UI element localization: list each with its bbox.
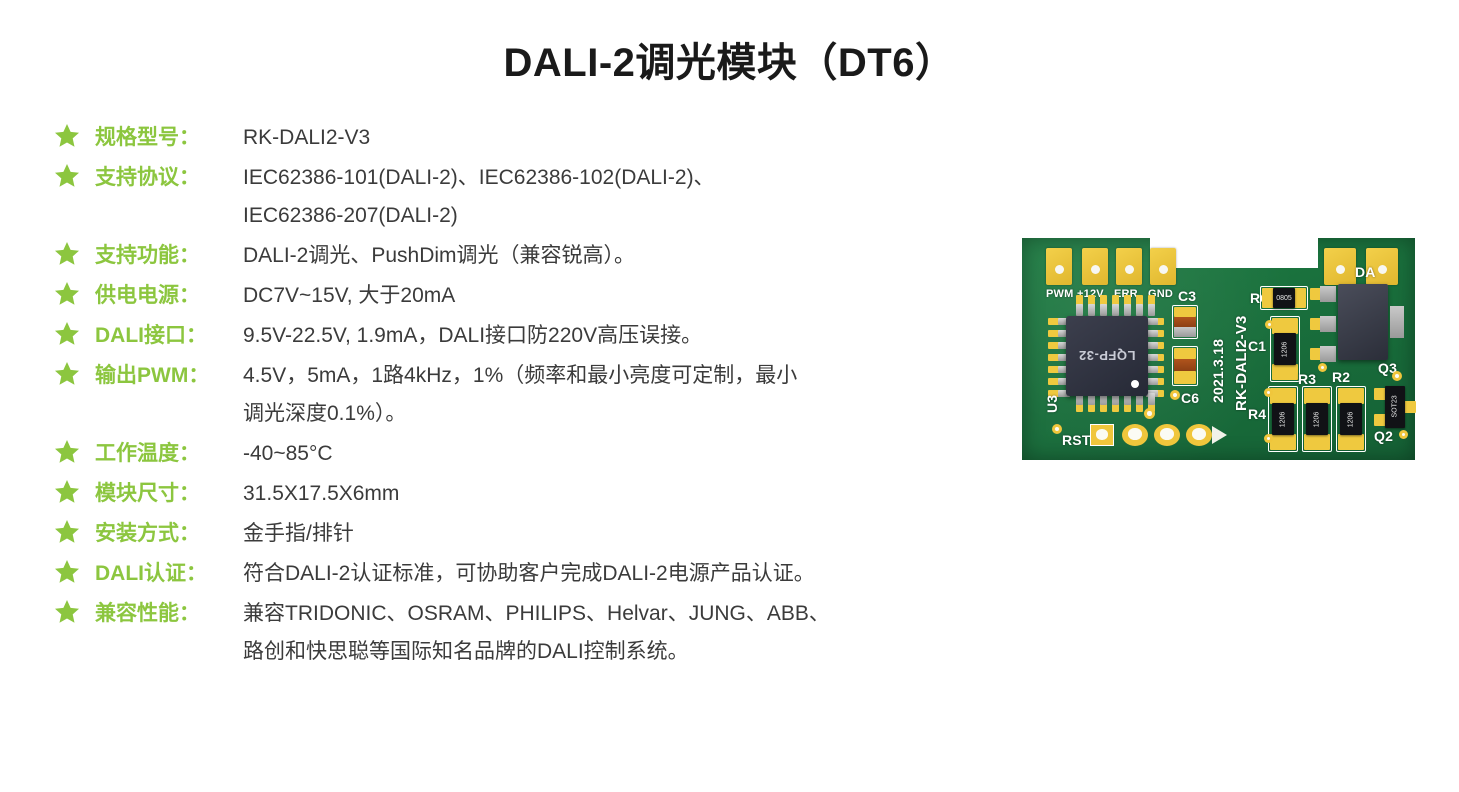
spec-value: -40~85°C bbox=[243, 438, 1015, 469]
silk-ref-rst: RST bbox=[1062, 432, 1091, 448]
silk-label-pwm: PWM bbox=[1046, 288, 1073, 300]
spec-value-line: IEC62386-207(DALI-2) bbox=[243, 200, 1015, 231]
silk-ref-c6: C6 bbox=[1181, 390, 1199, 406]
spec-value-line: DC7V~15V, 大于20mA bbox=[243, 280, 1015, 311]
smd-code: 1206 bbox=[1314, 408, 1321, 430]
spec-value: 9.5V-22.5V, 1.9mA，DALI接口防220V高压误接。 bbox=[243, 320, 1015, 351]
spec-value-line: 金手指/排针 bbox=[243, 518, 1015, 549]
spec-value-line: DALI-2调光、PushDim调光（兼容锐高）。 bbox=[243, 240, 1015, 271]
spec-value: RK-DALI2-V3 bbox=[243, 122, 1015, 153]
qfp-32-chip: LQFP-32 bbox=[1066, 316, 1148, 396]
spec-value-line: -40~85°C bbox=[243, 438, 1015, 469]
spec-value-line: 兼容TRIDONIC、OSRAM、PHILIPS、Helvar、JUNG、ABB… bbox=[243, 598, 1015, 629]
star-icon bbox=[55, 240, 81, 265]
spec-row: DALI接口： 9.5V-22.5V, 1.9mA，DALI接口防220V高压误… bbox=[55, 320, 1015, 351]
specification-list: 规格型号： RK-DALI2-V3 支持协议： IEC62386-101(DAL… bbox=[55, 122, 1015, 676]
silk-label-da: DA bbox=[1355, 264, 1376, 280]
spec-row: 模块尺寸： 31.5X17.5X6mm bbox=[55, 478, 1015, 509]
spec-value: DALI-2调光、PushDim调光（兼容锐高）。 bbox=[243, 240, 1015, 271]
spec-row: 输出PWM： 4.5V，5mA，1路4kHz，1%（频率和最小亮度可定制，最小 … bbox=[55, 360, 1015, 429]
pad-12v bbox=[1082, 248, 1108, 285]
silk-ref-c1: C1 bbox=[1248, 338, 1266, 354]
silk-ref-q2: Q2 bbox=[1374, 428, 1393, 444]
smd-code: SOT23 bbox=[1392, 397, 1399, 417]
smd-code: 1206 bbox=[1280, 408, 1287, 430]
spec-row: 工作温度： -40~85°C bbox=[55, 438, 1015, 469]
silk-ref-c3: C3 bbox=[1178, 288, 1196, 304]
via-c6 bbox=[1170, 390, 1180, 400]
page-title: DALI-2调光模块（DT6） bbox=[0, 30, 1459, 88]
smd-r3: 1206 bbox=[1306, 403, 1328, 435]
smd-code: 1206 bbox=[1348, 408, 1355, 430]
pcb-product-image: PWM +12V ERR GND DA bbox=[1022, 238, 1415, 460]
silk-ref-r2: R2 bbox=[1332, 369, 1350, 385]
spec-value: 金手指/排针 bbox=[243, 518, 1015, 549]
spec-value: IEC62386-101(DALI-2)、IEC62386-102(DALI-2… bbox=[243, 162, 1015, 231]
spec-row: 规格型号： RK-DALI2-V3 bbox=[55, 122, 1015, 153]
star-icon bbox=[55, 518, 81, 543]
spec-row: 供电电源： DC7V~15V, 大于20mA bbox=[55, 280, 1015, 311]
spec-value: DC7V~15V, 大于20mA bbox=[243, 280, 1015, 311]
pad-rst bbox=[1090, 424, 1114, 446]
polarity-triangle-marker bbox=[1212, 426, 1227, 444]
spec-value-line: 路创和快思聪等国际知名品牌的DALI控制系统。 bbox=[243, 636, 1015, 667]
spec-label: 兼容性能： bbox=[95, 598, 243, 629]
pad-err bbox=[1116, 248, 1142, 285]
pad-test-3 bbox=[1186, 424, 1212, 446]
spec-value-line: 调光深度0.1%）。 bbox=[243, 398, 1015, 429]
spec-value: 31.5X17.5X6mm bbox=[243, 478, 1015, 509]
pad-da-left bbox=[1324, 248, 1356, 285]
spec-row: 兼容性能： 兼容TRIDONIC、OSRAM、PHILIPS、Helvar、JU… bbox=[55, 598, 1015, 667]
star-icon bbox=[55, 280, 81, 305]
spec-label: 安装方式： bbox=[95, 518, 243, 549]
spec-value-line: 31.5X17.5X6mm bbox=[243, 478, 1015, 509]
spec-row: 支持功能： DALI-2调光、PushDim调光（兼容锐高）。 bbox=[55, 240, 1015, 271]
star-icon bbox=[55, 598, 81, 623]
silk-ref-r4: R4 bbox=[1248, 406, 1266, 422]
pad-test-1 bbox=[1122, 424, 1148, 446]
spec-value-line: RK-DALI2-V3 bbox=[243, 122, 1015, 153]
spec-label: DALI认证： bbox=[95, 558, 243, 589]
spec-label: 供电电源： bbox=[95, 280, 243, 311]
spec-label: 模块尺寸： bbox=[95, 478, 243, 509]
spec-label: 支持功能： bbox=[95, 240, 243, 271]
smd-code: 1206 bbox=[1282, 338, 1289, 360]
spec-row: 安装方式： 金手指/排针 bbox=[55, 518, 1015, 549]
spec-value-line: 9.5V-22.5V, 1.9mA，DALI接口防220V高压误接。 bbox=[243, 320, 1015, 351]
star-icon bbox=[55, 162, 81, 187]
spec-value-line: 符合DALI-2认证标准，可协助客户完成DALI-2电源产品认证。 bbox=[243, 558, 1015, 589]
spec-value-line: 4.5V，5mA，1路4kHz，1%（频率和最小亮度可定制，最小 bbox=[243, 360, 1015, 391]
silk-ref-u3: U3 bbox=[1044, 395, 1060, 413]
smd-r6: 0805 bbox=[1273, 288, 1295, 308]
star-icon bbox=[55, 320, 81, 345]
silk-board-name: RK-DALI2-V3 bbox=[1233, 315, 1250, 411]
star-icon bbox=[55, 558, 81, 583]
spec-value: 兼容TRIDONIC、OSRAM、PHILIPS、Helvar、JUNG、ABB… bbox=[243, 598, 1015, 667]
star-icon bbox=[55, 122, 81, 147]
chip-pin1-dot bbox=[1131, 380, 1139, 388]
spec-row: DALI认证： 符合DALI-2认证标准，可协助客户完成DALI-2电源产品认证… bbox=[55, 558, 1015, 589]
component-q3 bbox=[1338, 284, 1388, 360]
star-icon bbox=[55, 438, 81, 463]
pad-test-2 bbox=[1154, 424, 1180, 446]
spec-label: 工作温度： bbox=[95, 438, 243, 469]
spec-label: 输出PWM： bbox=[95, 360, 243, 391]
smd-r2: 1206 bbox=[1340, 403, 1362, 435]
spec-label: DALI接口： bbox=[95, 320, 243, 351]
star-icon bbox=[55, 478, 81, 503]
spec-value-line: IEC62386-101(DALI-2)、IEC62386-102(DALI-2… bbox=[243, 162, 1015, 193]
pad-gnd bbox=[1150, 248, 1176, 285]
spec-label: 规格型号： bbox=[95, 122, 243, 153]
smd-r4: 1206 bbox=[1272, 403, 1294, 435]
spec-row: 支持协议： IEC62386-101(DALI-2)、IEC62386-102(… bbox=[55, 162, 1015, 231]
smd-code: 0805 bbox=[1273, 295, 1295, 302]
star-icon bbox=[55, 360, 81, 385]
silk-board-date: 2021.3.18 bbox=[1210, 339, 1226, 403]
smd-q2: SOT23 bbox=[1385, 386, 1405, 428]
chip-label: LQFP-32 bbox=[1066, 348, 1148, 363]
spec-value: 符合DALI-2认证标准，可协助客户完成DALI-2电源产品认证。 bbox=[243, 558, 1015, 589]
spec-value: 4.5V，5mA，1路4kHz，1%（频率和最小亮度可定制，最小 调光深度0.1… bbox=[243, 360, 1015, 429]
spec-label: 支持协议： bbox=[95, 162, 243, 193]
smd-c1: 1206 bbox=[1274, 333, 1296, 365]
silk-ref-r3: R3 bbox=[1298, 371, 1316, 387]
pad-pwm bbox=[1046, 248, 1072, 285]
